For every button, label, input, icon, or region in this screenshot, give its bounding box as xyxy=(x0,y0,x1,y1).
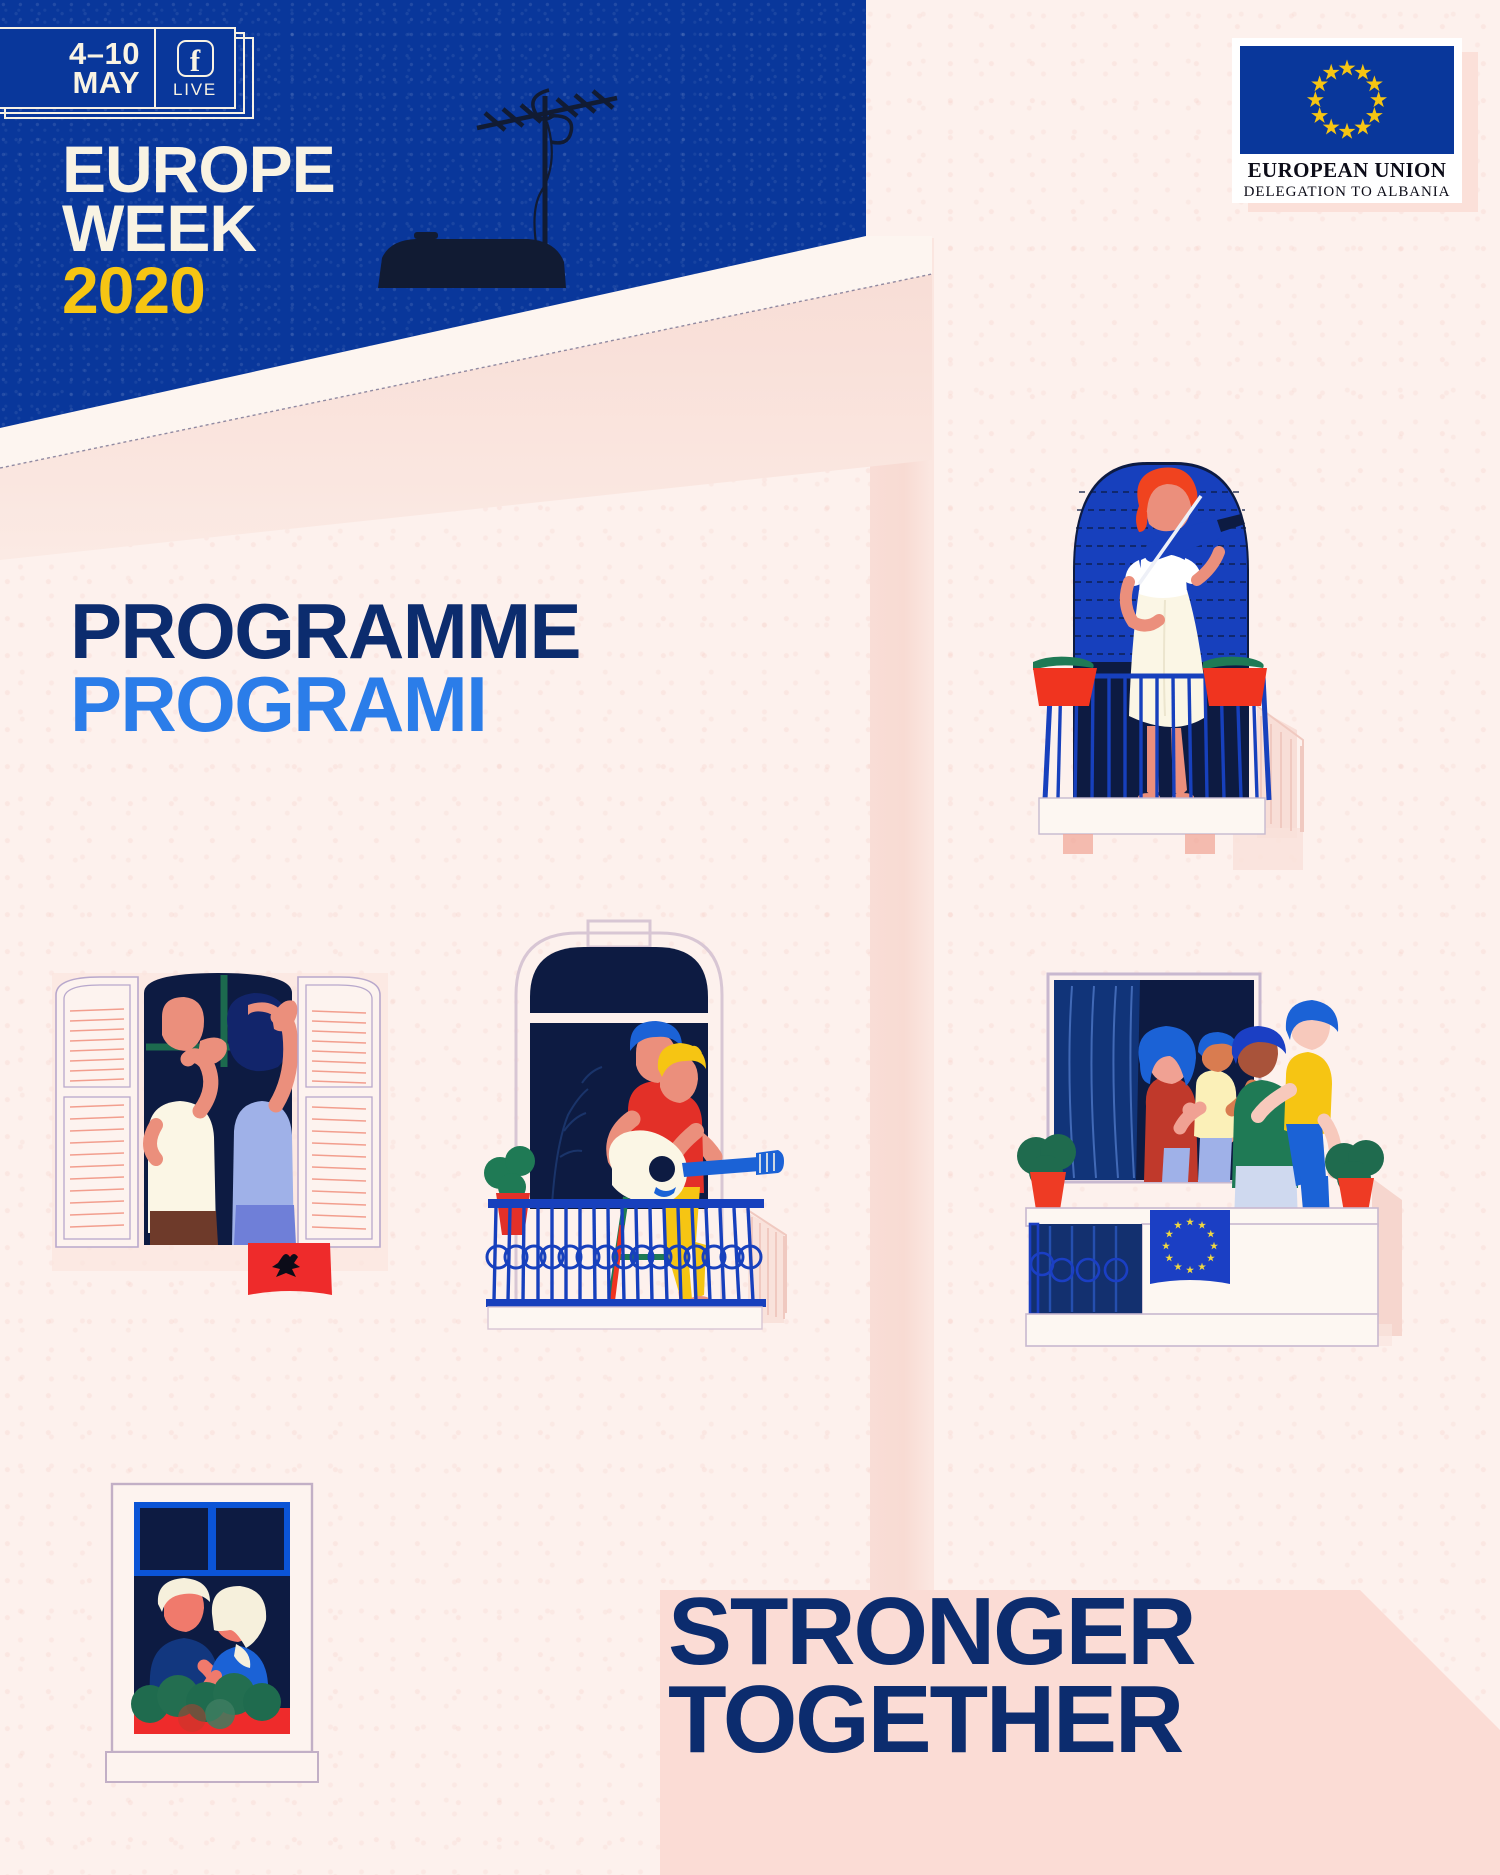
slogan: STRONGER TOGETHER xyxy=(668,1588,1194,1765)
europe-week-poster: 4–10 MAY f LIVE EUROPE WEEK 2020 EUROPEA… xyxy=(0,0,1500,1875)
violin-balcony-flowerbox-left xyxy=(1033,657,1097,706)
guitar-balcony-illustration xyxy=(460,905,820,1335)
eu-flag-hanging-icon xyxy=(1150,1210,1230,1284)
slogan-line1: STRONGER xyxy=(668,1588,1194,1676)
facebook-f-glyph: f xyxy=(190,50,200,72)
eu-logo: EUROPEAN UNION DELEGATION TO ALBANIA xyxy=(1232,38,1462,203)
event-date-range: 4–10 xyxy=(69,39,140,68)
page-title: PROGRAMME PROGRAMI xyxy=(70,595,580,742)
event-title-line2: WEEK xyxy=(62,199,702,258)
applauding-window-illustration xyxy=(40,955,400,1305)
eu-delegation-subtitle: DELEGATION TO ALBANIA xyxy=(1240,184,1454,201)
slogan-line2: TOGETHER xyxy=(668,1676,1194,1764)
family-balcony-illustration xyxy=(1000,960,1420,1350)
event-month: MAY xyxy=(72,68,140,97)
date-live-badge: 4–10 MAY f LIVE xyxy=(0,27,254,109)
facebook-live-block[interactable]: f LIVE xyxy=(154,29,234,107)
window-shutter-right xyxy=(298,977,380,1247)
violin-balcony-flowerbox-right xyxy=(1203,657,1267,706)
window-shutter-left xyxy=(56,977,138,1247)
facebook-icon[interactable]: f xyxy=(177,40,214,77)
page-title-english: PROGRAMME xyxy=(70,595,580,668)
violin-balcony-illustration xyxy=(1035,440,1365,870)
albania-flag-icon xyxy=(248,1243,332,1295)
event-title-year: 2020 xyxy=(62,261,702,320)
eu-flag-icon xyxy=(1240,46,1454,154)
event-dates: 4–10 MAY xyxy=(0,29,154,107)
live-label: LIVE xyxy=(173,80,217,100)
page-title-albanian: PROGRAMI xyxy=(70,668,580,741)
badge-front: 4–10 MAY f LIVE xyxy=(0,27,236,109)
elderly-couple-window-illustration xyxy=(100,1480,350,1820)
event-title: EUROPE WEEK 2020 xyxy=(62,140,702,320)
eu-organisation-name: EUROPEAN UNION xyxy=(1240,158,1454,183)
applauding-woman xyxy=(227,993,298,1245)
